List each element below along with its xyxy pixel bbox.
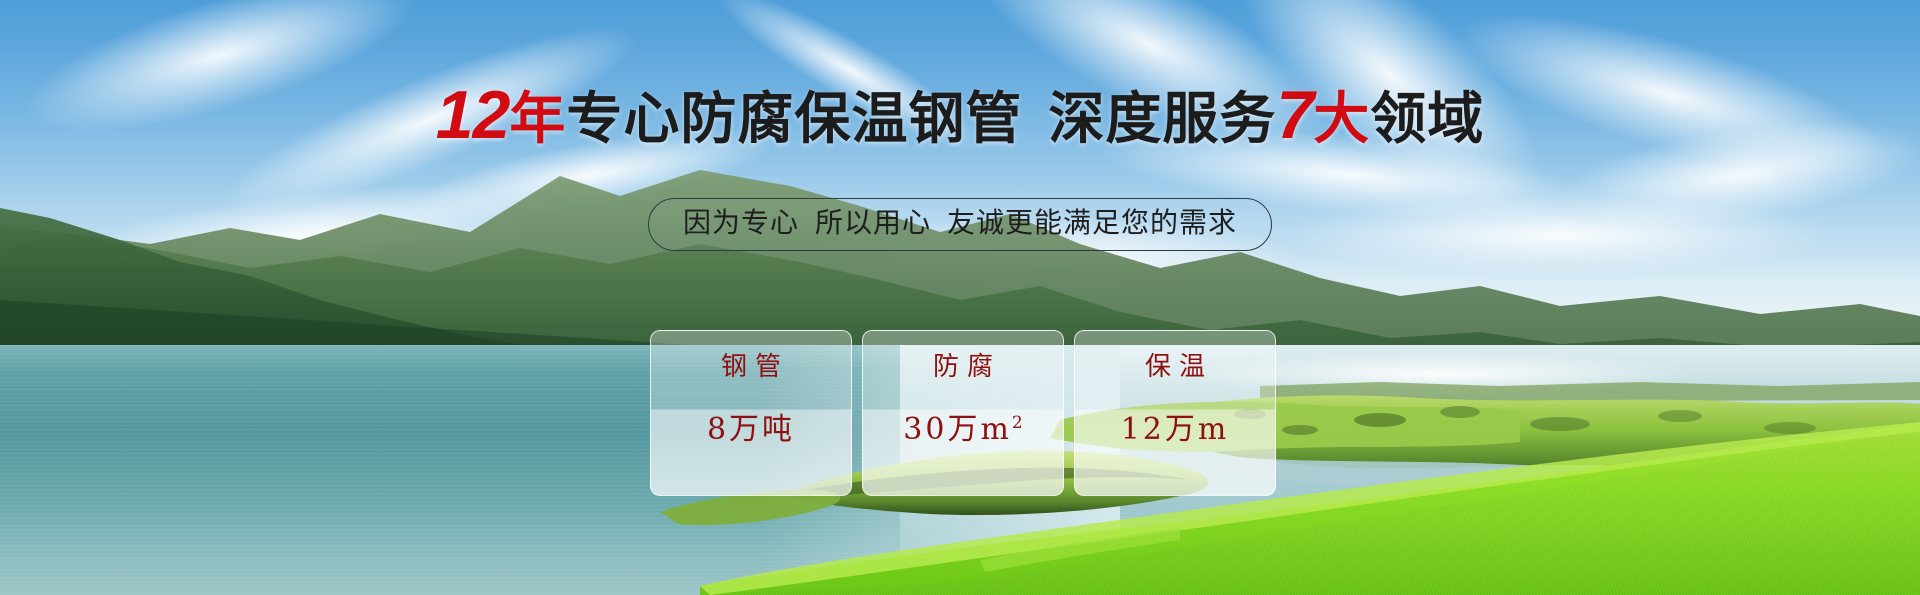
stat-card-label: 保温: [1137, 351, 1213, 383]
subtitle-pill: 因为专心所以用心友诚更能满足您的需求: [648, 198, 1272, 251]
stat-card-value-text: 8万吨: [707, 412, 795, 447]
stat-card-group: 钢管 8万吨 防腐 30万m2 保温 12万m: [650, 330, 1276, 496]
stat-card-steel-pipe[interactable]: 钢管 8万吨: [650, 330, 852, 496]
headline-big-char: 大: [1313, 87, 1370, 150]
stat-card-value: 12万m: [1121, 405, 1230, 448]
headline-main-text: 专心防腐保温钢管: [566, 87, 1022, 150]
stat-card-label: 钢管: [713, 351, 789, 383]
stat-card-value: 8万吨: [707, 405, 795, 448]
subtitle-part-3: 友诚更能满足您的需求: [947, 207, 1237, 238]
headline-years-number: 12: [436, 77, 510, 153]
stat-card-value-text: 30万m: [903, 412, 1012, 447]
stat-card-value-text: 12万m: [1121, 412, 1230, 447]
subtitle-part-1: 因为专心: [683, 207, 799, 238]
subtitle-row: 因为专心所以用心友诚更能满足您的需求: [0, 198, 1920, 251]
hero-banner: 12年专心防腐保温钢管深度服务7大领域 因为专心所以用心友诚更能满足您的需求 钢…: [0, 0, 1920, 595]
subtitle-part-2: 所以用心: [815, 207, 931, 238]
banner-headline: 12年专心防腐保温钢管深度服务7大领域: [0, 84, 1920, 150]
headline-years-unit: 年: [509, 87, 566, 150]
headline-service-text: 深度服务: [1048, 87, 1276, 150]
headline-seven-number: 7: [1276, 77, 1313, 153]
stat-card-anticorrosion[interactable]: 防腐 30万m2: [862, 330, 1064, 496]
headline-fields-text: 领域: [1370, 87, 1484, 150]
stat-card-value-sup: 2: [1012, 413, 1023, 433]
stat-card-insulation[interactable]: 保温 12万m: [1074, 330, 1276, 496]
stat-card-label: 防腐: [925, 351, 1001, 383]
stat-card-value: 30万m2: [903, 405, 1022, 448]
